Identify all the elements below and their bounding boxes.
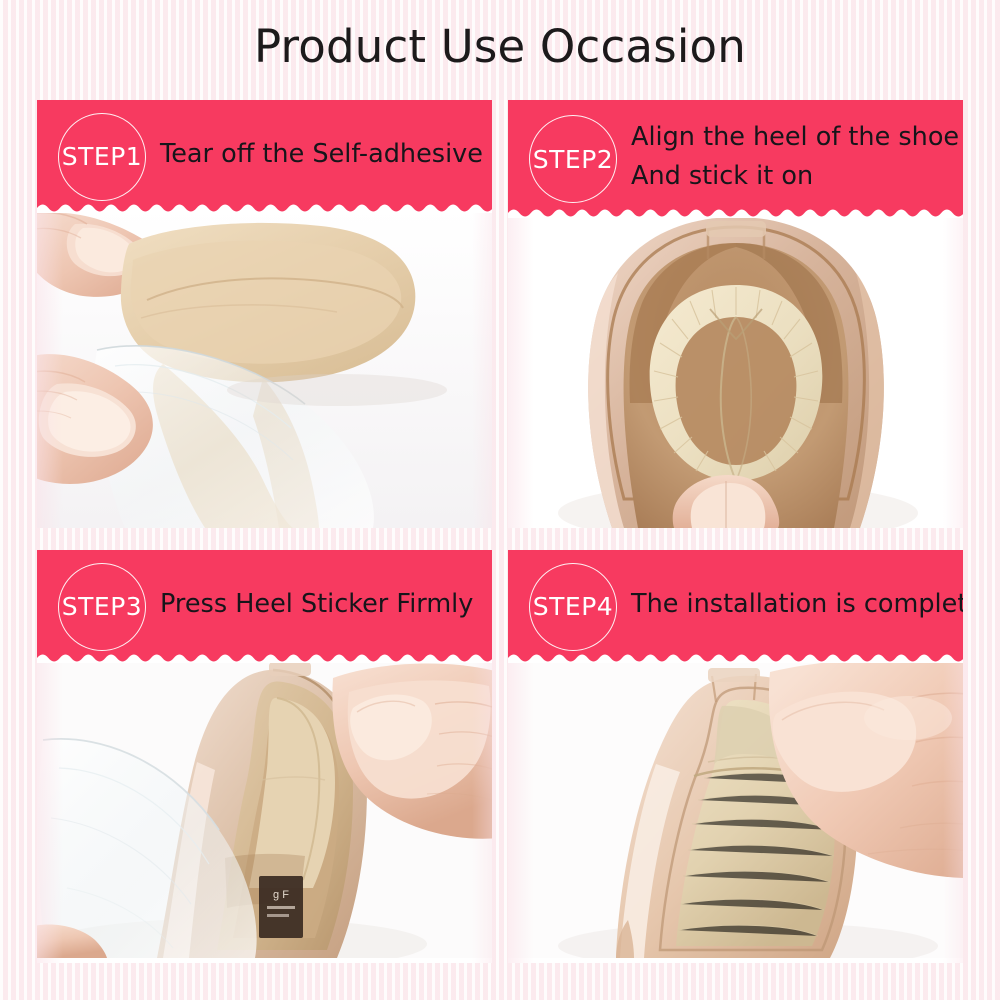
step-photo-4-image [508,658,963,958]
step-banner-1: STEP1 Tear off the Self-adhesive [37,100,492,213]
step-photo-1-image [37,208,492,528]
svg-text:g F: g F [273,889,289,901]
step-text-1: Tear off the Self-adhesive [160,135,483,178]
step-badge-label-1: STEP1 [62,142,142,171]
step-photo-3: g F [37,658,492,963]
step-text-3-line1: Press Heel Sticker Firmly [160,589,473,619]
steps-grid: STEP1 Tear off the Self-adhesive [37,100,963,963]
step-text-1-line1: Tear off the Self-adhesive [160,139,483,169]
banner-scallop-edge-2 [508,206,963,218]
step-text-2-line2: And stick it on [631,157,959,196]
step-badge-3: STEP3 [58,563,146,651]
step-badge-4: STEP4 [529,563,617,651]
step-photo-1 [37,208,492,528]
step-photo-2 [508,213,963,528]
step-photo-4 [508,658,963,963]
step-panel-1: STEP1 Tear off the Self-adhesive [37,100,492,528]
step-badge-1: STEP1 [58,113,146,201]
step-text-4-line1: The installation is complete [631,589,963,619]
step-banner-4: STEP4 The installation is complete [508,550,963,663]
banner-scallop-edge-1 [37,201,492,213]
step-photo-2-image [508,213,963,528]
banner-scallop-edge-4 [508,651,963,663]
step-text-2-line1: Align the heel of the shoe [631,122,959,152]
step-photo-3-image: g F [37,658,492,958]
product-use-occasion-infographic: Product Use Occasion STEP1 Tear off the … [0,0,1000,1000]
step-banner-3: STEP3 Press Heel Sticker Firmly [37,550,492,663]
step-text-3: Press Heel Sticker Firmly [160,585,473,628]
step-panel-2: STEP2 Align the heel of the shoe And sti… [508,100,963,528]
step-text-2: Align the heel of the shoe And stick it … [631,118,959,200]
step-panel-4: STEP4 The installation is complete [508,550,963,963]
step-panel-3: STEP3 Press Heel Sticker Firmly [37,550,492,963]
page-title: Product Use Occasion [0,17,1000,77]
step-banner-2: STEP2 Align the heel of the shoe And sti… [508,100,963,218]
step-badge-label-3: STEP3 [62,592,142,621]
step-badge-2: STEP2 [529,115,617,203]
step-text-4: The installation is complete [631,585,963,628]
step-badge-label-4: STEP4 [533,592,613,621]
banner-scallop-edge-3 [37,651,492,663]
step-badge-label-2: STEP2 [533,145,613,174]
